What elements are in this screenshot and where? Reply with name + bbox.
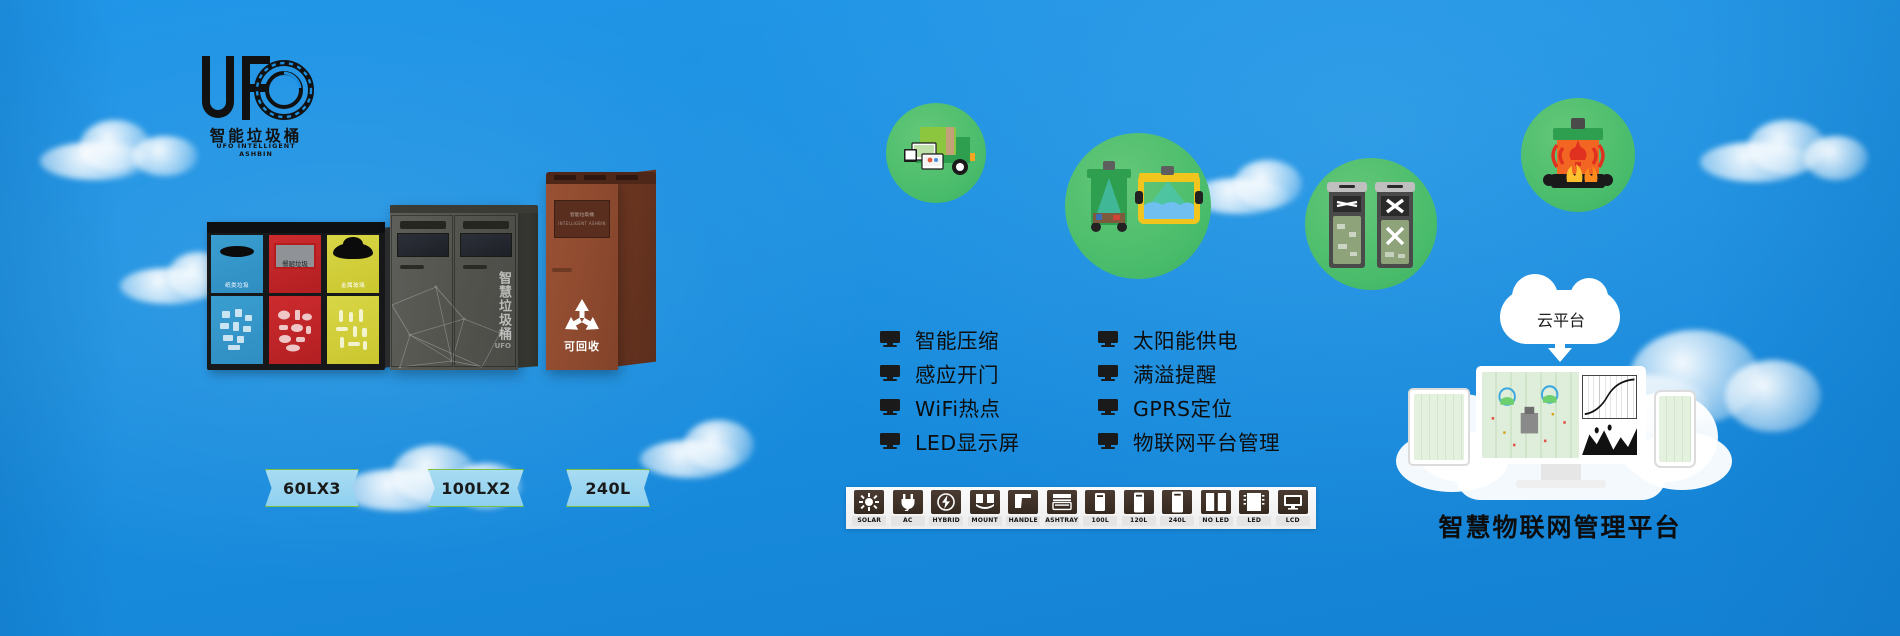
feature-item: 感应开门 [880,356,1020,390]
bin-top-cap [207,222,385,233]
iot-platform-illustration: 云平台 [1396,290,1726,540]
download-arrow-head [1548,348,1572,362]
blank-panel-icon [1201,490,1231,514]
lcd-panel-icon: 餐厨垃圾 [274,243,316,269]
bin-body: 智能垃圾桶 INTELLIGENT ASHBIN 可回收 [546,178,618,370]
option-caption: LCD [1276,516,1310,526]
feature-circle-sorting [1065,133,1211,279]
feature-label: LED显示屏 [915,426,1020,456]
bin-brand-mark: UFO [495,342,511,350]
ashtray-icon [1047,490,1077,514]
monitor-icon [1098,365,1120,381]
compartment-upper-metal-glass: 金属玻璃 [327,235,379,293]
option-caption: ASHTRAY [1045,516,1079,526]
kitchen-waste-art [275,306,315,354]
sun-icon [854,490,884,514]
option-240l[interactable]: 240L [1159,490,1196,526]
compartment-label: 金属玻璃 [327,281,379,289]
feature-item: GPRS定位 [1098,390,1280,424]
option-mount[interactable]: MOUNT [967,490,1004,526]
feature-circle-collection [886,103,986,203]
bin-fire-alarm-icon [1521,98,1635,212]
option-120l[interactable]: 120L [1121,490,1158,526]
handle-icon [1008,490,1038,514]
window-label-cn: 智能垃圾桶 [555,211,609,218]
option-caption: HANDLE [1006,516,1040,526]
monitor-icon [880,365,902,381]
option-icon-strip: SOLAR AC HYBRID MOUNT [846,487,1316,529]
product-bin-100lx2: 智慧垃圾桶 UFO [390,205,538,370]
capacity-label-240l: 240L [566,469,650,507]
monitor-icon [1098,433,1120,449]
led-panel-icon [1239,490,1269,514]
platform-caption: 智慧物联网管理平台 [1380,508,1740,544]
recycle-icon [560,296,604,336]
option-caption: 120L [1122,516,1156,526]
monitor-icon [880,433,902,449]
feature-label: WiFi热点 [915,392,1001,422]
option-caption: 100L [1083,516,1117,526]
bin-unit-right: 智慧垃圾桶 UFO [454,215,516,367]
lightning-bolt-icon [931,490,961,514]
monitor-base [1516,480,1606,488]
option-caption: NO LED [1199,516,1233,526]
bin-top-cap [546,172,656,184]
phone-map-screen [1659,396,1691,462]
option-hybrid[interactable]: HYBRID [928,490,965,526]
feature-item: 智能压缩 [880,322,1020,356]
compartment-lower-metal-glass [327,296,379,364]
feature-item: 太阳能供电 [1098,322,1280,356]
bin-240l-icon [1162,490,1192,514]
feature-circle-compaction [1305,158,1437,290]
monitor-icon [880,399,902,415]
desktop-monitor [1476,366,1646,464]
monitor-icon [1098,399,1120,415]
feature-label: 物联网平台管理 [1133,426,1280,456]
ufo-ring-logo-icon [196,52,314,124]
option-caption: 240L [1160,516,1194,526]
logo-name-en: UFO INTELLIGENT ASHBIN [198,142,314,158]
bin-front-label: 可回收 [546,338,618,354]
feature-item: LED显示屏 [880,424,1020,458]
option-handle[interactable]: HANDLE [1005,490,1042,526]
door-handle-icon [400,265,424,269]
paper-waste-art [217,306,257,354]
option-caption: LED [1237,516,1271,526]
compartment-upper-paper: 纸类垃圾 [211,235,263,293]
bin-unit-left [391,215,453,367]
bin-side-text: 智慧垃圾桶 [495,271,511,341]
feature-item: 物联网平台管理 [1098,424,1280,458]
oval-slot-icon [220,246,254,257]
led-strip-icon [463,221,509,229]
feature-item: 满溢提醒 [1098,356,1280,390]
option-ashtray[interactable]: ASHTRAY [1044,490,1081,526]
compartment-label: 餐厨垃圾 [276,259,314,268]
feature-label: 满溢提醒 [1133,358,1217,388]
option-100l[interactable]: 100L [1082,490,1119,526]
line-chart [1582,375,1637,419]
bin-side-panel [618,170,656,367]
deposit-window [460,233,512,257]
smartphone-device [1654,390,1696,468]
feature-circle-fire-alarm [1521,98,1635,212]
garbage-truck-with-devices-icon [886,103,986,203]
feature-label: GPRS定位 [1133,392,1233,422]
feature-label: 智能压缩 [915,324,999,354]
vent-icon [616,175,638,180]
vent-icon [554,175,576,180]
promo-banner: 智能垃圾桶 UFO INTELLIGENT ASHBIN 纸类垃圾 餐厨垃圾 金… [0,0,1900,636]
map-panel [1482,372,1579,458]
brand-logo: 智能垃圾桶 UFO INTELLIGENT ASHBIN [196,52,316,152]
cloud-slot-icon [333,243,373,259]
monitor-icon [1098,331,1120,347]
monitor-screen [1482,372,1640,458]
tablet-map-screen [1414,394,1464,460]
feature-column-right: 太阳能供电 满溢提醒 GPRS定位 物联网平台管理 [1098,322,1280,458]
option-caption: HYBRID [929,516,963,526]
twin-smart-bins-icon [1305,158,1437,290]
feature-label: 太阳能供电 [1133,324,1238,354]
lcd-screen-icon [1278,490,1308,514]
capacity-label-60lx3: 60LX3 [265,469,359,507]
metal-glass-waste-art [333,306,373,354]
bin-body: 纸类垃圾 餐厨垃圾 金属玻璃 [207,222,385,370]
feature-label: 感应开门 [915,358,999,388]
option-solar[interactable]: SOLAR [851,490,888,526]
power-plug-icon [893,490,923,514]
area-chart [1582,422,1637,455]
door-handle-icon [463,265,487,269]
product-bin-240l: 智能垃圾桶 INTELLIGENT ASHBIN 可回收 [546,172,656,370]
window-label-en: INTELLIGENT ASHBIN [555,221,609,226]
monitor-icon [880,331,902,347]
product-bin-60lx3: 纸类垃圾 餐厨垃圾 金属玻璃 [207,222,385,370]
door-handle-icon [552,268,572,272]
compartment-lower-kitchen [269,296,321,364]
info-window: 智能垃圾桶 INTELLIGENT ASHBIN [554,200,610,238]
compartment-label: 纸类垃圾 [211,281,263,289]
compartment-upper-kitchen: 餐厨垃圾 [269,235,321,293]
charts-panel [1579,372,1640,458]
option-caption: SOLAR [852,516,886,526]
feature-item: WiFi热点 [880,390,1020,424]
option-lcd[interactable]: LCD [1275,490,1312,526]
option-caption: AC [891,516,925,526]
option-caption: MOUNT [968,516,1002,526]
left-vignette [0,0,120,636]
option-led[interactable]: LED [1236,490,1273,526]
cloud-decoration [640,420,790,480]
option-ac[interactable]: AC [890,490,927,526]
tablet-device [1408,388,1470,466]
bin-top-cap [390,205,538,213]
bin-side-panel [518,208,538,367]
capacity-label-100lx2: 100LX2 [428,469,524,507]
two-bins-sensor-icon [1065,133,1211,279]
deposit-window [397,233,449,257]
cloud-platform-label: 云平台 [1396,307,1726,331]
led-strip-icon [400,221,446,229]
vent-icon [584,175,606,180]
feature-column-left: 智能压缩 感应开门 WiFi热点 LED显示屏 [880,322,1020,458]
compartment-lower-paper [211,296,263,364]
option-no-led[interactable]: NO LED [1198,490,1235,526]
bin-120l-icon [1124,490,1154,514]
wall-mount-icon [970,490,1000,514]
bin-100l-icon [1085,490,1115,514]
monitor-stand [1541,464,1581,480]
